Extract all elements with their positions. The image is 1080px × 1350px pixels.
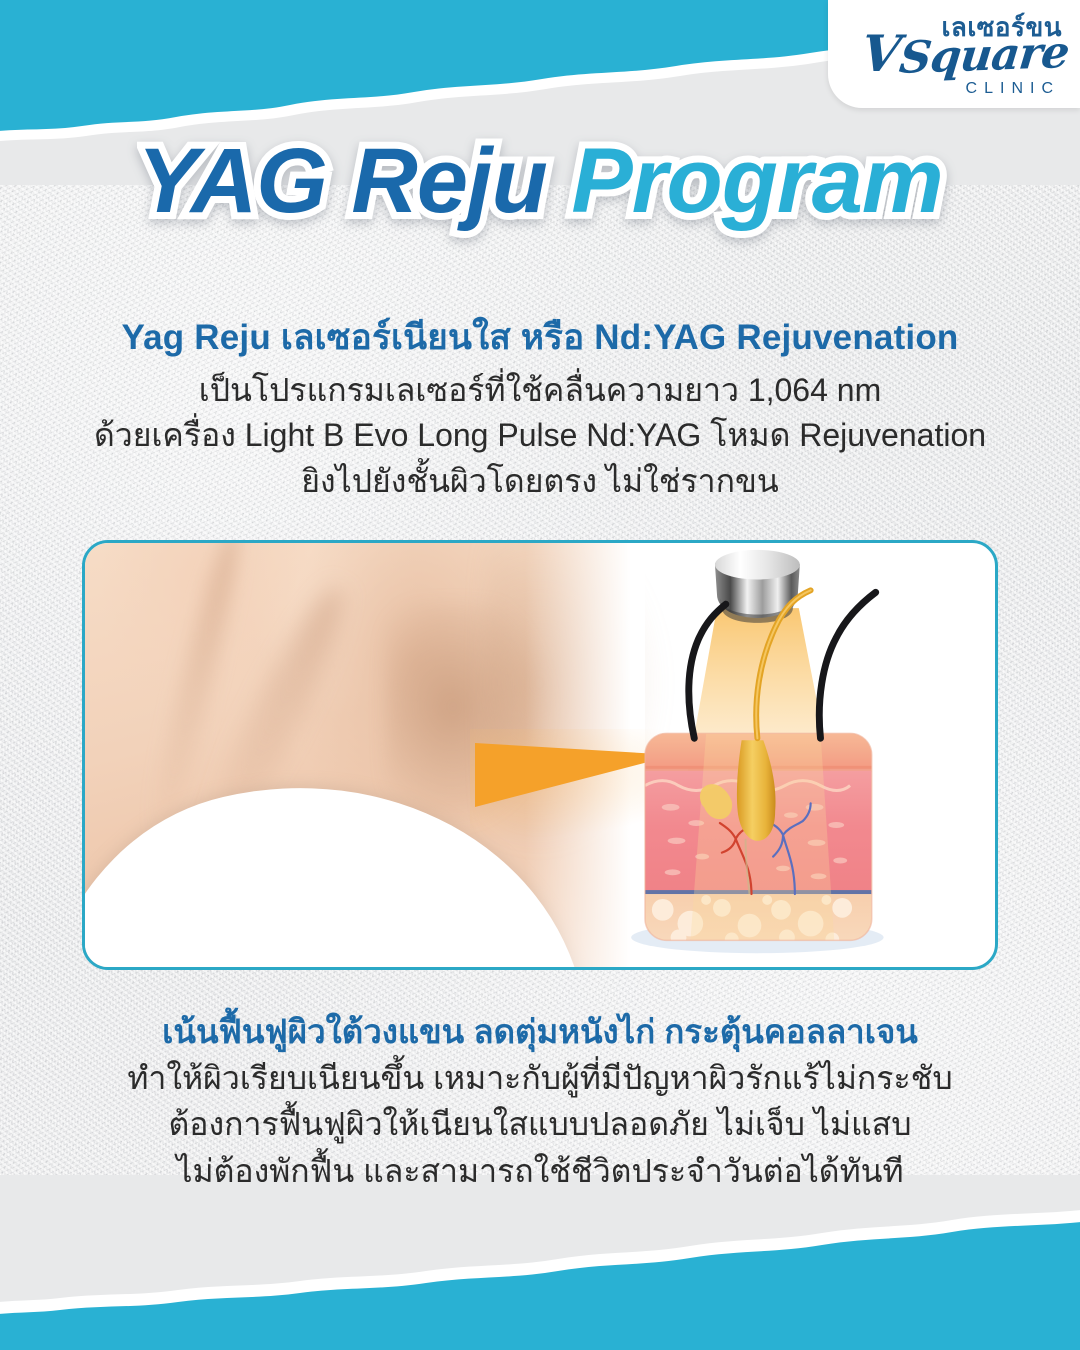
bottom-torn-paper-edge (0, 1175, 1080, 1350)
intro-line-3: ยิงไปยังชั้นผิวโดยตรง ไม่ใช่รากขน (0, 459, 1080, 504)
logo-word-clinic: CLINIC (966, 80, 1060, 98)
benefits-line-3: ไม่ต้องพักฟื้น และสามารถใช้ชีวิตประจำวัน… (0, 1148, 1080, 1194)
intro-line-2: ด้วยเครื่อง Light B Evo Long Pulse Nd:YA… (0, 413, 1080, 458)
intro-line-1: เป็นโปรแกรมเลเซอร์ที่ใช้คลื่นความยาว 1,0… (0, 368, 1080, 413)
benefits-headline: เน้นฟื้นฟูผิวใต้วงแขน ลดตุ่มหนังไก่ กระต… (0, 1005, 1080, 1058)
title-part-one: YAG Reju (137, 130, 546, 232)
illustration-panel (82, 540, 998, 970)
title-part-two: Program (571, 130, 942, 232)
poster-title: YAG Reju Program (137, 133, 942, 230)
brand-logo-card[interactable]: เลเซอร์ขน V Square CLINIC (828, 0, 1080, 108)
skin-cross-section-laser-diagram (585, 543, 985, 967)
benefits-line-1: ทำให้ผิวเรียบเนียนขึ้น เหมาะกับผู้ที่มีป… (0, 1055, 1080, 1101)
poster-title-wrapper: YAG Reju Program (0, 133, 1080, 230)
intro-headline: Yag Reju เลเซอร์เนียนใส หรือ Nd:YAG Reju… (0, 310, 1080, 365)
intro-body: เป็นโปรแกรมเลเซอร์ที่ใช้คลื่นความยาว 1,0… (0, 368, 1080, 504)
benefits-line-2: ต้องการฟื้นฟูผิวให้เนียนใสแบบปลอดภัย ไม่… (0, 1101, 1080, 1147)
poster-canvas: เลเซอร์ขน V Square CLINIC YAG Reju Progr… (0, 0, 1080, 1350)
logo-word-square: Square (897, 27, 1071, 84)
benefits-body: ทำให้ผิวเรียบเนียนขึ้น เหมาะกับผู้ที่มีป… (0, 1055, 1080, 1194)
